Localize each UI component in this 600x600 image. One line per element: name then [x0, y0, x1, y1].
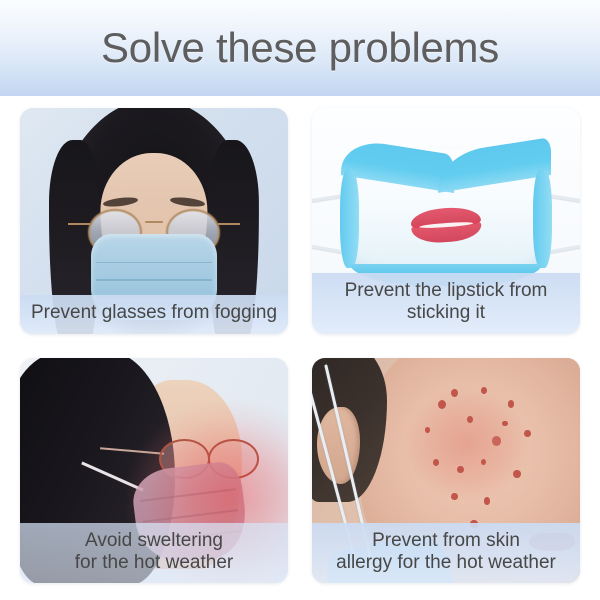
- benefit-card-prevent-glasses-fogging[interactable]: Prevent glasses from fogging: [20, 108, 288, 334]
- caption-line: allergy for the hot weather: [318, 552, 574, 574]
- glasses-bridge: [145, 221, 164, 223]
- acne-spot: [481, 387, 487, 394]
- acne-spot: [433, 459, 439, 466]
- acne-spot: [508, 400, 514, 407]
- caption-line: Prevent glasses from fogging: [26, 302, 282, 324]
- caption-line: Prevent from skin: [318, 530, 574, 552]
- card-caption: Avoid sweltering for the hot weather: [20, 523, 288, 583]
- benefit-card-avoid-sweltering[interactable]: Avoid sweltering for the hot weather: [20, 358, 288, 584]
- glasses-temple-left: [68, 223, 89, 225]
- lipstick-kiss-mark: [410, 206, 482, 245]
- acne-spot: [513, 470, 521, 478]
- caption-line: Avoid sweltering: [26, 530, 282, 552]
- benefit-card-grid: Prevent glasses from fogging Prevent the…: [0, 96, 600, 600]
- page-title: Solve these problems: [101, 24, 499, 72]
- caption-line: Prevent the lipstick from: [318, 280, 574, 302]
- acne-spot: [492, 436, 501, 446]
- benefit-card-prevent-lipstick-sticking[interactable]: Prevent the lipstick from sticking it: [312, 108, 580, 334]
- card-caption: Prevent from skin allergy for the hot we…: [312, 523, 580, 583]
- caption-line: for the hot weather: [26, 552, 282, 574]
- rash-redness-area: [403, 385, 537, 516]
- caption-line: sticking it: [318, 302, 574, 324]
- mask-pleat: [96, 279, 212, 281]
- mask-side-edge-left: [340, 169, 359, 268]
- acne-spot: [425, 427, 430, 433]
- benefit-card-prevent-skin-allergy[interactable]: Prevent from skin allergy for the hot we…: [312, 358, 580, 584]
- glasses-temple-right: [218, 223, 239, 225]
- mask-pleat: [96, 262, 212, 264]
- card-caption: Prevent the lipstick from sticking it: [312, 273, 580, 333]
- page-header: Solve these problems: [0, 0, 600, 96]
- mask-side-edge-right: [533, 169, 552, 268]
- card-caption: Prevent glasses from fogging: [20, 295, 288, 333]
- acne-spot: [524, 430, 531, 438]
- acne-spot: [502, 421, 507, 427]
- acne-spot: [484, 497, 490, 504]
- acne-spot: [457, 466, 464, 474]
